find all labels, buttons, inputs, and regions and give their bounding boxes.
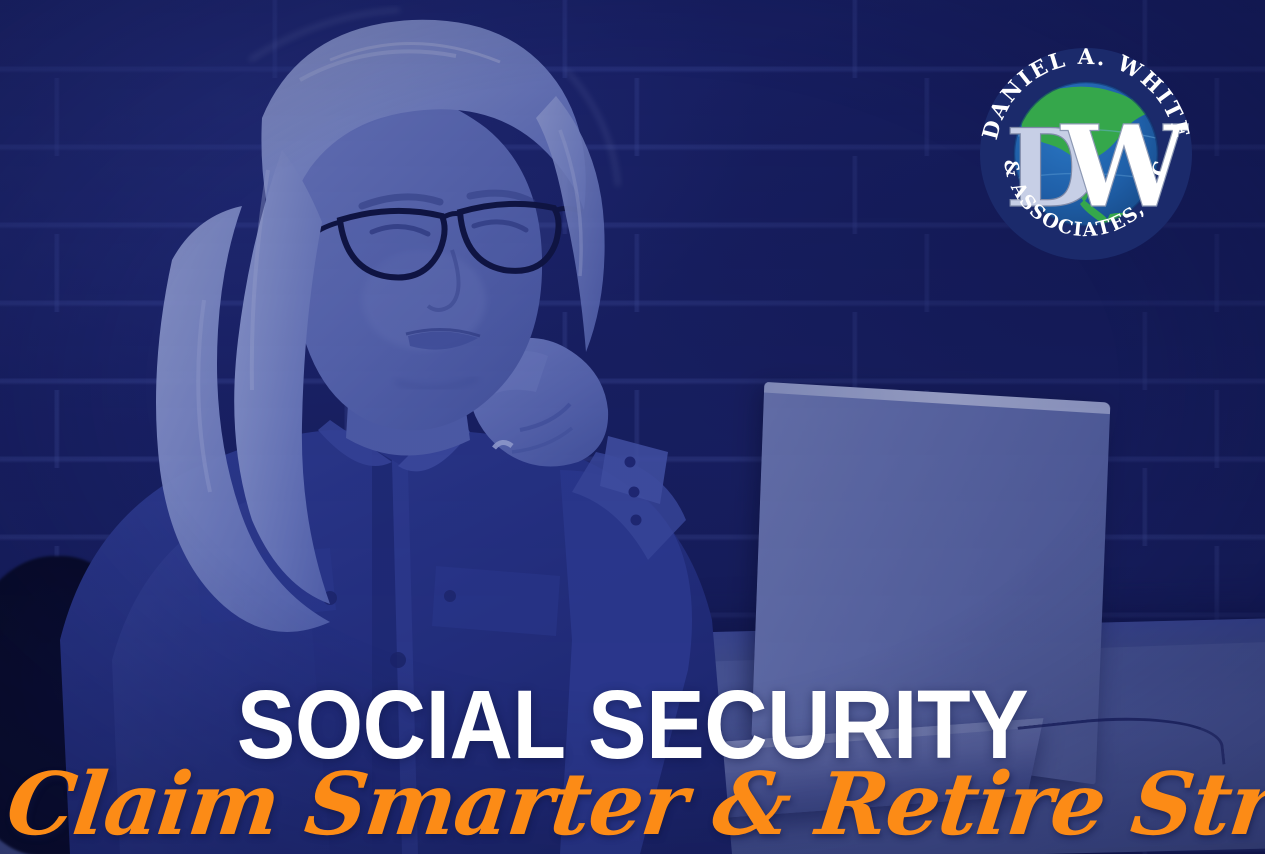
company-logo[interactable]: D W DANIEL A. WHITE & ASSOCIATES, LLC	[978, 18, 1194, 270]
promo-banner: D W DANIEL A. WHITE & ASSOCIATES, LLC SO…	[0, 0, 1265, 854]
